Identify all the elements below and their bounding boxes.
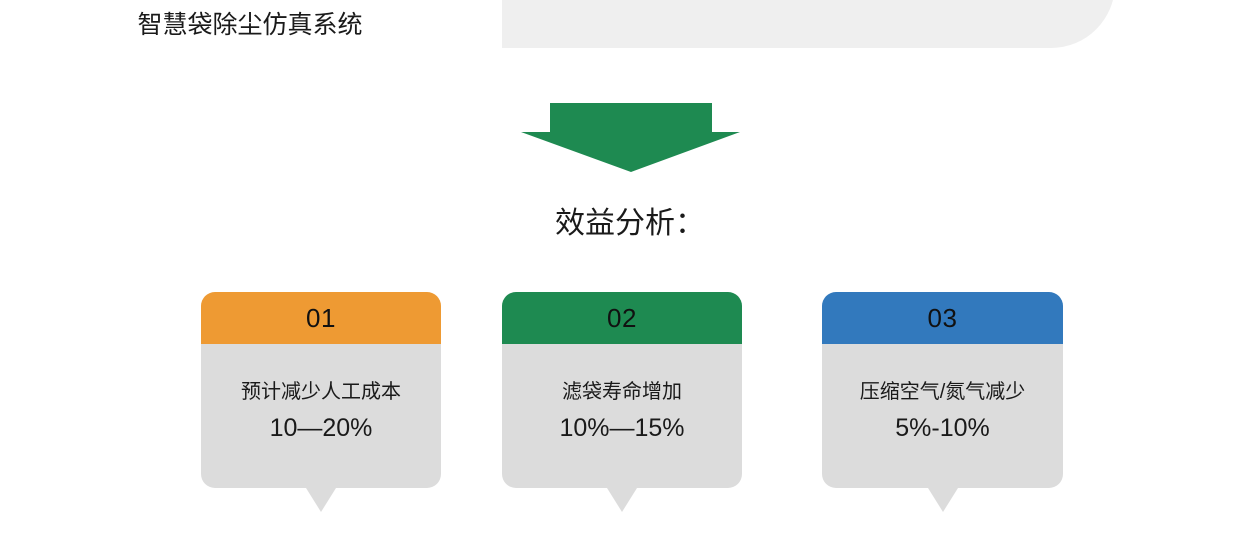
benefit-card-01[interactable]: 01 预计减少人工成本 10—20% — [201, 292, 441, 488]
benefit-card-03-header: 03 — [822, 292, 1063, 344]
benefit-card-03-number: 03 — [928, 303, 958, 333]
benefit-card-02[interactable]: 02 滤袋寿命增加 10%—15% — [502, 292, 742, 488]
benefit-card-01-number: 01 — [306, 303, 336, 333]
benefit-card-02-number: 02 — [607, 303, 637, 333]
benefit-card-01-body: 预计减少人工成本 10—20% — [201, 344, 441, 488]
benefit-card-01-header: 01 — [201, 292, 441, 344]
benefit-card-01-tail — [306, 488, 336, 512]
benefit-card-02-value: 10%—15% — [559, 411, 684, 445]
section-heading: 效益分析： — [440, 203, 820, 245]
benefit-card-03-body: 压缩空气/氮气减少 5%-10% — [822, 344, 1063, 488]
benefit-card-02-tail — [607, 488, 637, 512]
benefit-card-02-label: 滤袋寿命增加 — [562, 378, 682, 406]
benefit-card-03-tail — [928, 488, 958, 512]
feature-panel: 远程监控，不吸烟 — [502, 0, 1115, 48]
down-arrow-svg — [521, 103, 741, 173]
benefit-card-03-label: 压缩空气/氮气减少 — [860, 378, 1026, 406]
benefit-card-03-value: 5%-10% — [895, 411, 990, 445]
benefit-card-01-label: 预计减少人工成本 — [241, 378, 401, 406]
benefit-card-02-body: 滤袋寿命增加 10%—15% — [502, 344, 742, 488]
benefit-card-02-header: 02 — [502, 292, 742, 344]
down-arrow-icon — [521, 103, 741, 173]
system-title: 智慧袋除尘仿真系统 — [0, 8, 500, 42]
benefit-cards-group: 01 预计减少人工成本 10—20% 02 滤袋寿命增加 10%—15% 03 … — [0, 292, 1240, 522]
benefit-card-03[interactable]: 03 压缩空气/氮气减少 5%-10% — [822, 292, 1063, 488]
benefit-card-01-value: 10—20% — [270, 411, 373, 445]
